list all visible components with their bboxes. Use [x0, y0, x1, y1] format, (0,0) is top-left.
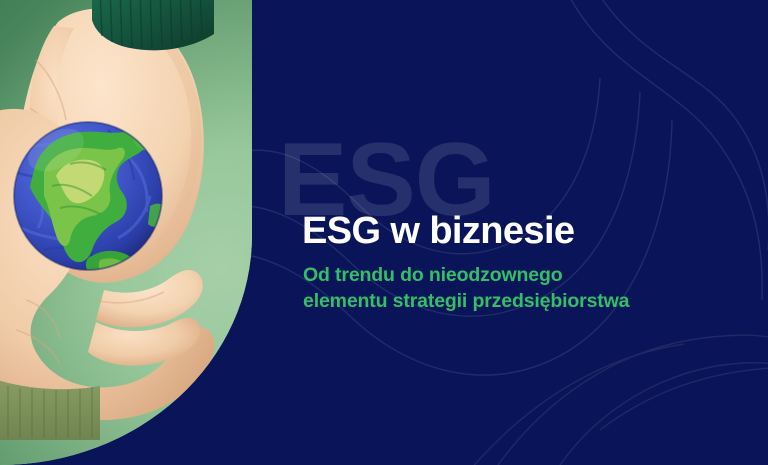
- esg-banner: ESG ESG w biznesie Od trendu do nieodzow…: [0, 0, 768, 465]
- page-subtitle: Od trendu do nieodzownego elementu strat…: [303, 262, 629, 314]
- subtitle-line-2: elementu strategii przedsiębiorstwa: [303, 288, 629, 314]
- subtitle-line-1: Od trendu do nieodzownego: [303, 262, 629, 288]
- hero-photo: [0, 0, 252, 465]
- hands-holding-globe-illustration: [0, 0, 252, 465]
- page-title: ESG w biznesie: [302, 212, 574, 252]
